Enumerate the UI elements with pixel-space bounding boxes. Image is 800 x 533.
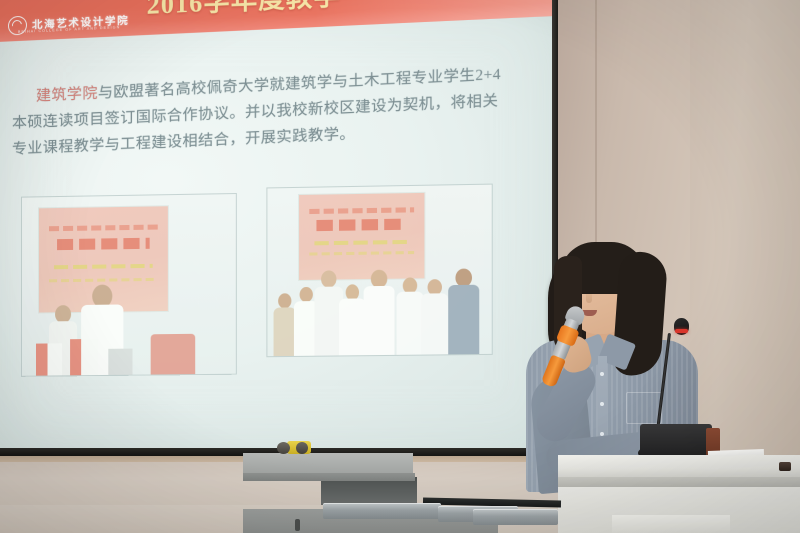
podium-desk — [558, 455, 800, 533]
photo1-caption-sub — [49, 278, 157, 282]
photo2-person-1 — [274, 293, 296, 356]
gray-equipment-cabinet — [243, 453, 558, 533]
photo1-document-2 — [70, 339, 98, 375]
swirl-logo-icon — [8, 16, 27, 36]
photo2-person-5 — [364, 270, 395, 356]
podium-edge — [558, 477, 800, 487]
photo1-podium — [151, 334, 196, 375]
photo2-caption-en — [314, 240, 409, 245]
yellow-tool-cap-right — [296, 442, 308, 454]
photo2-person-4 — [339, 284, 366, 355]
podium-top — [558, 455, 800, 479]
slide-banner: 北海艺术设计学院 BEIHAI COLLEGE OF ART AND DESIG… — [0, 0, 556, 42]
gooseneck-mic-led — [675, 329, 688, 333]
cabinet-drawer-handle[interactable] — [295, 519, 300, 531]
photo1-table — [108, 349, 132, 375]
slide-line-1-highlight: 建筑学院 — [36, 86, 98, 105]
photo2-person-7 — [421, 279, 448, 355]
cabinet-rail-c — [473, 509, 558, 525]
signing-ceremony-photo — [22, 194, 236, 376]
photo1-caption-line1 — [49, 224, 157, 231]
slide-body-text: 建筑学院与欧盟著名高校佩奇大学就建筑学与土木工程专业学生2+4 本硕连读项目签订… — [12, 59, 556, 163]
photo2-caption-line2 — [317, 219, 407, 232]
group-photo — [267, 185, 491, 357]
shirt-button-1 — [600, 372, 604, 376]
projection-screen: 北海艺术设计学院 BEIHAI COLLEGE OF ART AND DESIG… — [0, 0, 556, 452]
college-name-en: BEIHAI COLLEGE OF ART AND DESIGN — [18, 25, 120, 34]
photo2-caption-line1 — [309, 208, 414, 215]
photo2-caption-sub — [309, 251, 414, 256]
yellow-tool-object — [277, 441, 311, 455]
photo2-person-6 — [397, 277, 424, 355]
podium-leg — [612, 515, 730, 533]
cabinet-top-edge — [243, 473, 415, 481]
small-dark-object — [779, 462, 791, 471]
photo2-person-8 — [448, 268, 479, 354]
cabinet-open-cavity — [321, 477, 417, 505]
shirt-button-2 — [600, 402, 604, 406]
cabinet-top — [243, 453, 413, 475]
lecture-hall-photo: 北海艺术设计学院 BEIHAI COLLEGE OF ART AND DESIG… — [0, 0, 800, 533]
yellow-tool-cap-left — [277, 442, 290, 454]
slide-banner-title: 2016学年度教学 — [147, 0, 341, 22]
college-name-cn: 北海艺术设计学院 — [32, 13, 129, 33]
photo1-document-1 — [36, 343, 62, 375]
photo2-backdrop-screen — [298, 192, 425, 281]
projected-slide: 北海艺术设计学院 BEIHAI COLLEGE OF ART AND DESIG… — [0, 0, 556, 452]
photo1-caption-line2 — [57, 238, 150, 250]
photo1-caption-en — [54, 264, 152, 269]
college-logo: 北海艺术设计学院 — [8, 11, 129, 36]
cabinet-rail-a — [323, 503, 441, 519]
